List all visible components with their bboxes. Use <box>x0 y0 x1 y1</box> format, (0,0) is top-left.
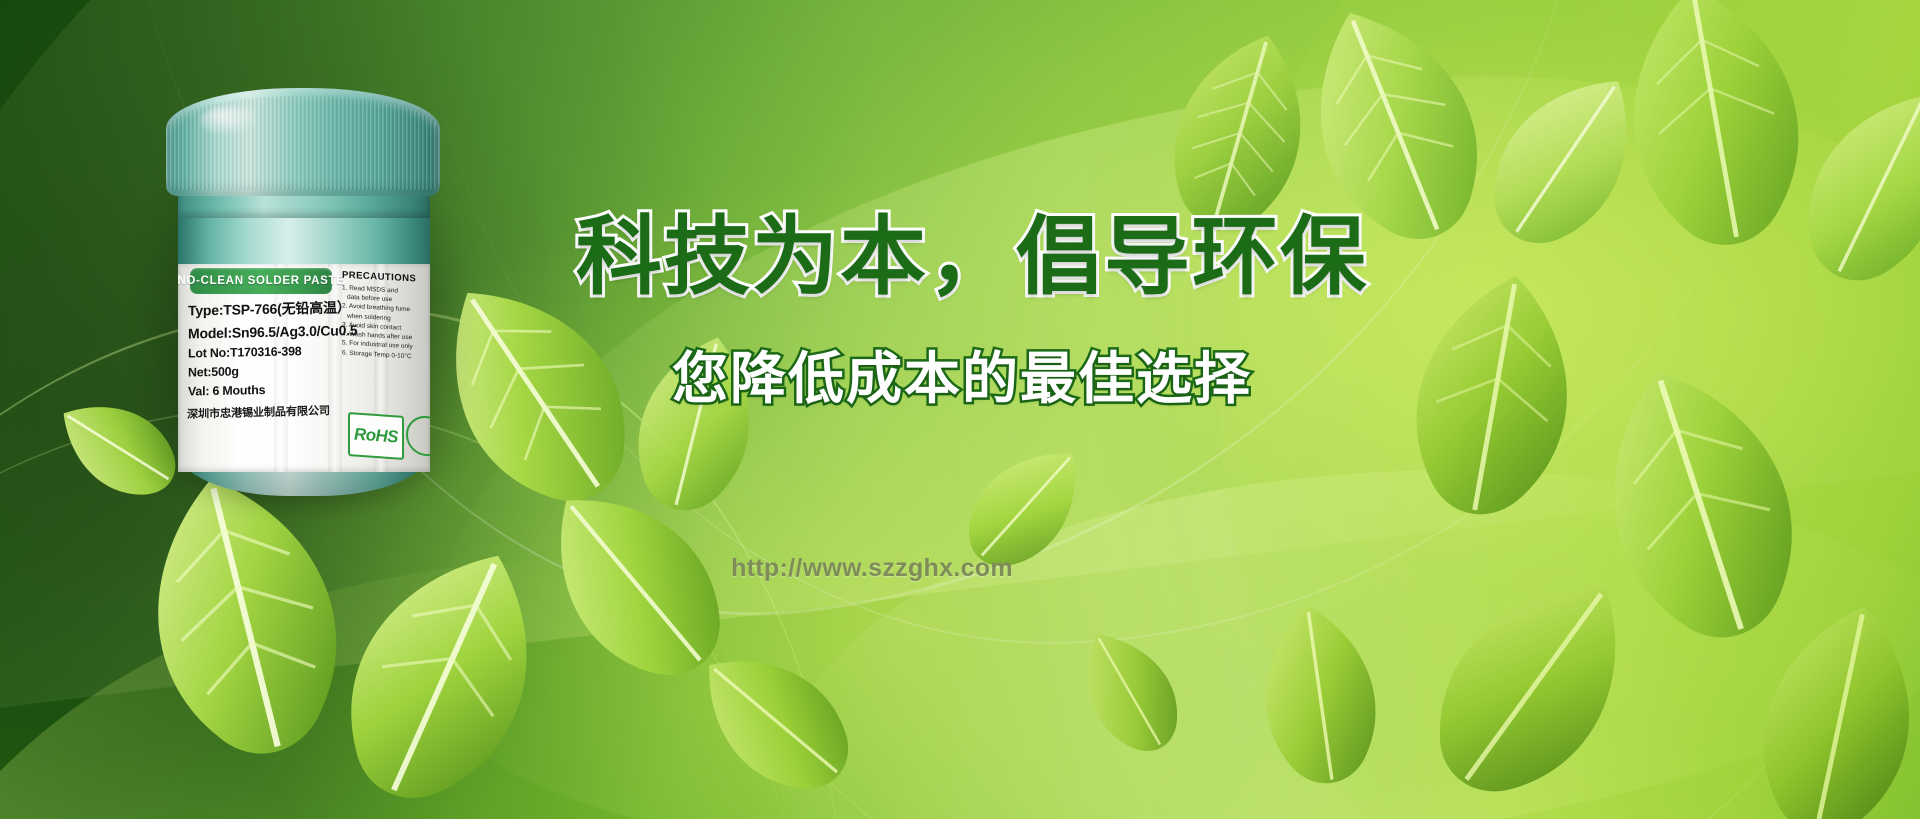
banner-subheadline: 您降低成本的最佳选择 <box>672 334 1432 415</box>
label-spec-model: Model:Sn96.5/Ag3.0/Cu0.5 <box>188 322 336 341</box>
background-swirl-4 <box>0 223 933 819</box>
background-sweep-2 <box>396 32 1920 819</box>
jar-lid <box>166 88 440 196</box>
label-spec-net: Net:500g <box>188 362 336 379</box>
label-right-column: PRECAUTIONS 1. Read MSDS and data before… <box>342 272 430 360</box>
label-product-banner: NO-CLEAN SOLDER PASTE <box>190 268 332 294</box>
label-company-name: 深圳市忠港锡业制品有限公司 <box>187 402 336 422</box>
label-left-column: NO-CLEAN SOLDER PASTE Type:TSP-766(无铅高温）… <box>186 268 336 420</box>
leaf-icon <box>1578 0 1851 268</box>
website-url: http://www.szzghx.com <box>672 554 1072 583</box>
leaf-icon <box>658 605 892 819</box>
precautions-title: PRECAUTIONS <box>342 270 430 286</box>
solder-paste-jar: NO-CLEAN SOLDER PASTE Type:TSP-766(无铅高温）… <box>152 88 452 498</box>
label-spec-lot: Lot No:T170316-398 <box>188 343 336 360</box>
leaf-icon <box>1042 600 1218 786</box>
lid-highlight <box>200 106 260 136</box>
precautions-list: 1. Read MSDS and data before use 2. Avoi… <box>342 286 430 360</box>
label-banner-text: NO-CLEAN SOLDER PASTE <box>178 275 345 287</box>
label-spec-validity: Val: 6 Mouths <box>188 381 336 398</box>
rohs-certification-icon: RoHS <box>348 412 404 460</box>
certification-circle-icon <box>406 415 430 458</box>
leaf-icon <box>1439 30 1692 291</box>
rohs-label: RoHS <box>354 424 398 447</box>
leaf-icon <box>1717 582 1920 819</box>
label-spec-type: Type:TSP-766(无铅高温） <box>188 297 336 320</box>
leaf-icon <box>1752 51 1920 323</box>
background-sweep-3 <box>780 470 1920 819</box>
leaf-icon <box>1377 522 1694 819</box>
leaf-icon <box>1228 590 1413 800</box>
leaf-icon <box>285 505 605 819</box>
background-sweep-4 <box>0 560 880 819</box>
promotional-banner: NO-CLEAN SOLDER PASTE Type:TSP-766(无铅高温）… <box>0 0 1920 819</box>
leaf-icon <box>1542 330 1858 675</box>
banner-headline: 科技为本，倡导环保 <box>576 212 1376 302</box>
product-label: NO-CLEAN SOLDER PASTE Type:TSP-766(无铅高温）… <box>178 264 430 472</box>
